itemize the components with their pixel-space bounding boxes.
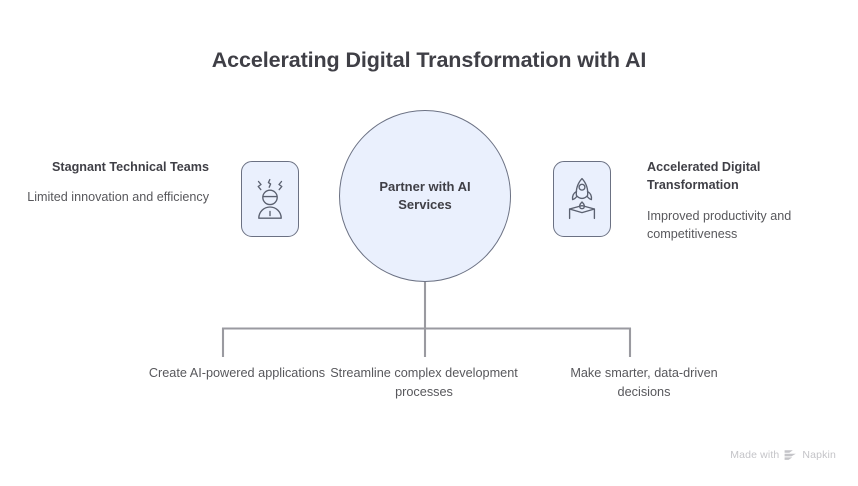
right-icon-tile — [553, 161, 611, 237]
center-node: Partner with AI Services — [339, 110, 511, 282]
right-outcome-body: Improved productivity and competitivenes… — [647, 207, 847, 244]
right-outcome-block: Accelerated Digital Transformation Impro… — [647, 158, 847, 244]
left-outcome-block: Stagnant Technical Teams Limited innovat… — [12, 158, 209, 207]
left-icon-tile — [241, 161, 299, 237]
rocket-launch-icon — [561, 176, 603, 222]
stressed-person-icon — [250, 177, 290, 221]
branch-item: Make smarter, data-driven decisions — [549, 364, 739, 402]
diagram-canvas: Accelerating Digital Transformation with… — [0, 0, 858, 486]
page-title: Accelerating Digital Transformation with… — [0, 48, 858, 73]
watermark: Made with Napkin — [730, 449, 836, 461]
branch-item: Create AI-powered applications — [142, 364, 332, 383]
napkin-logo-icon — [784, 449, 797, 461]
left-outcome-heading: Stagnant Technical Teams — [12, 158, 209, 176]
watermark-text: Made with — [730, 449, 779, 461]
left-outcome-body: Limited innovation and efficiency — [12, 188, 209, 207]
right-outcome-heading: Accelerated Digital Transformation — [647, 158, 847, 195]
watermark-brand: Napkin — [802, 449, 836, 461]
branch-item: Streamline complex development processes — [329, 364, 519, 402]
center-node-label: Partner with AI Services — [365, 178, 485, 215]
